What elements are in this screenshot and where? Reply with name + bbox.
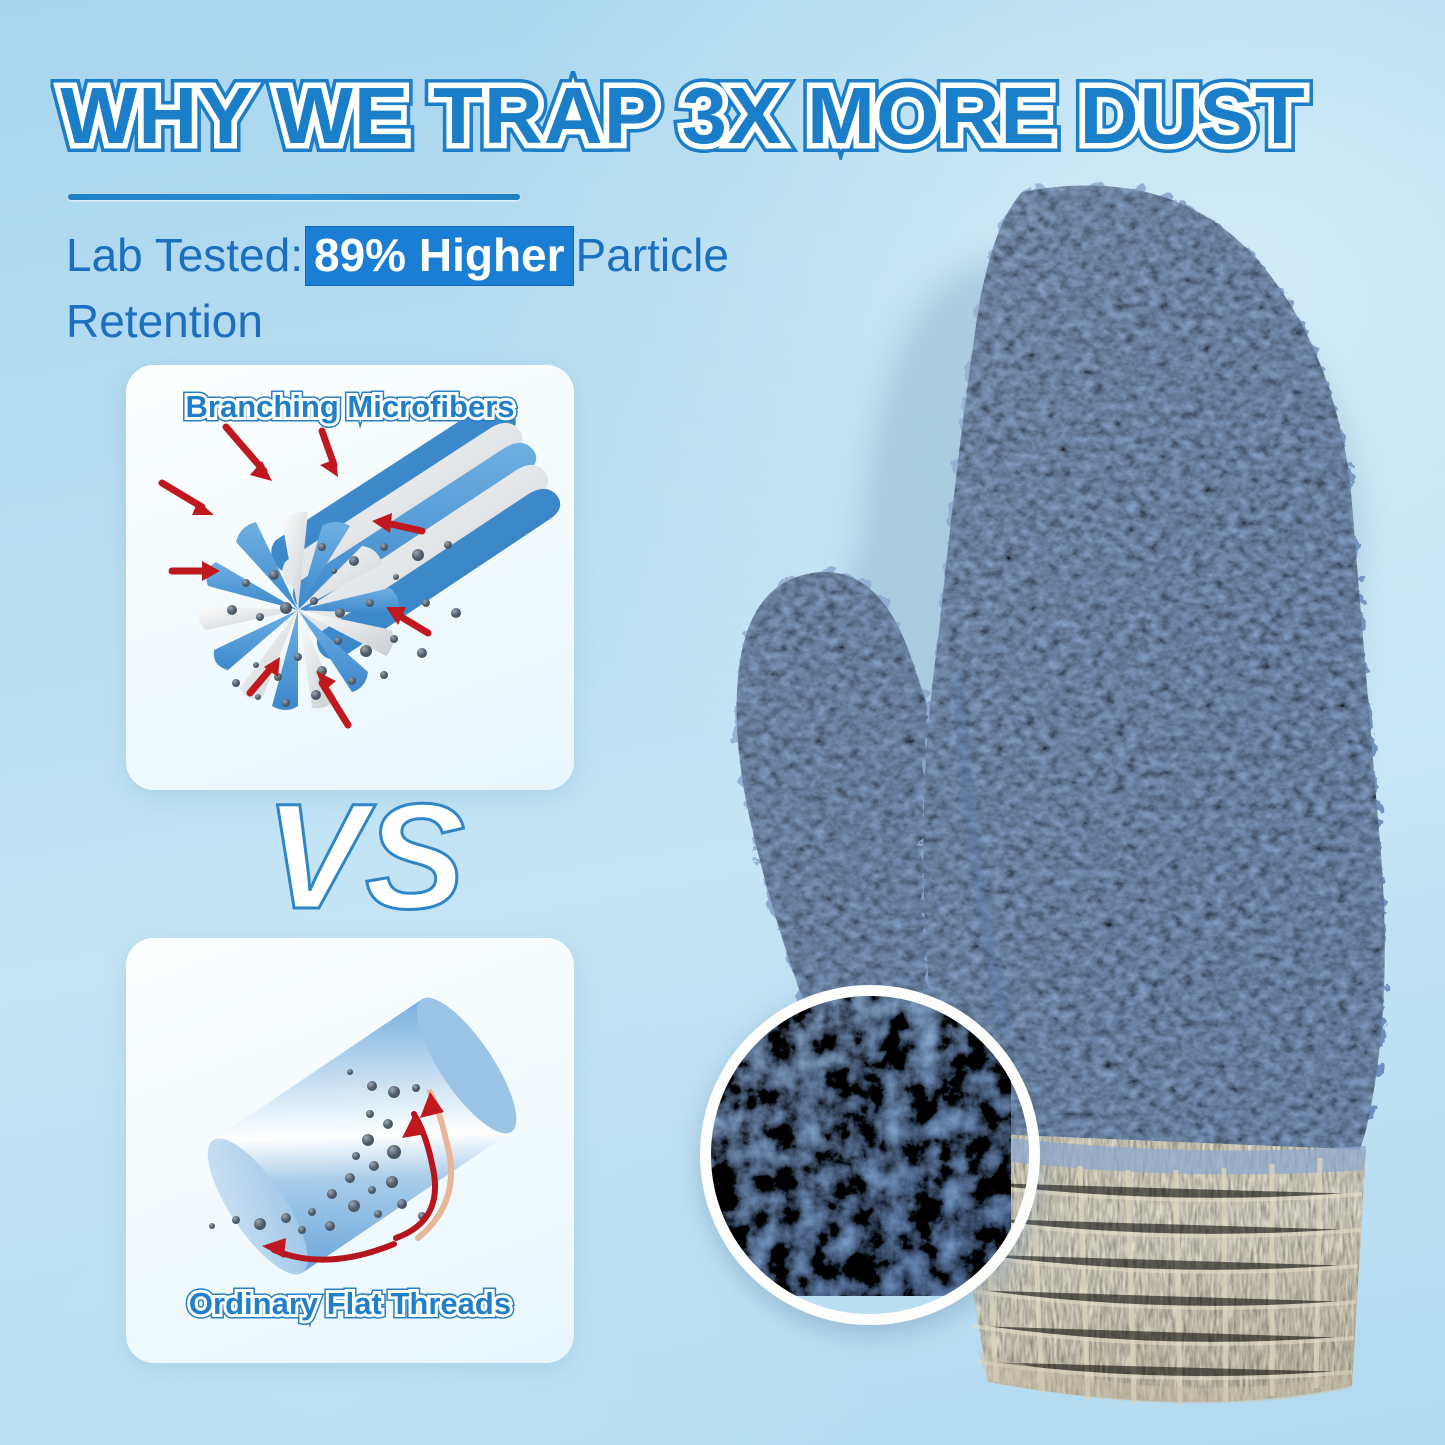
infographic-canvas: WHY WE TRAP 3X MORE DUST WHY WE TRAP 3X … bbox=[0, 0, 1445, 1445]
card-top-label: Branching Microfibers bbox=[126, 389, 574, 425]
branching-microfiber-diagram bbox=[126, 365, 574, 790]
status-badge: 89% Higher bbox=[306, 227, 573, 285]
subtitle: Lab Tested:89% HigherParticle Retention bbox=[66, 222, 826, 354]
versus-badge: VS bbox=[240, 772, 490, 942]
magnified-texture-inset bbox=[700, 985, 1040, 1325]
card-branching-microfibers: Branching Microfibers Branching Microfib… bbox=[126, 365, 574, 790]
card-bottom-label: Ordinary Flat Threads bbox=[126, 1286, 574, 1322]
card-ordinary-flat-threads: Ordinary Flat Threads Ordinary Flat Thre… bbox=[126, 938, 574, 1363]
versus-label: VS bbox=[265, 772, 465, 940]
title-divider bbox=[68, 194, 520, 200]
subtitle-prefix: Lab Tested: bbox=[66, 229, 303, 281]
magnified-fiber-texture bbox=[711, 996, 1011, 1296]
